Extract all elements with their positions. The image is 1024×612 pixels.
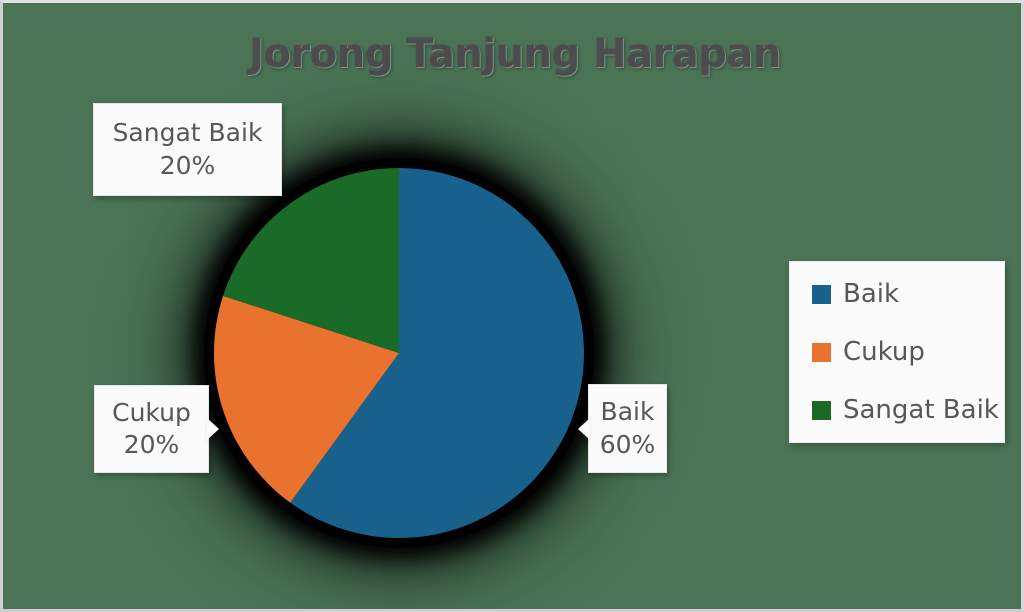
pie-chart [214, 168, 584, 538]
data-label-baik-name: Baik [601, 396, 655, 429]
callout-tail-icon [207, 418, 219, 440]
callout-tail-icon [578, 418, 590, 440]
legend-label: Baik [843, 279, 899, 309]
data-label-cukup[interactable]: Cukup 20% [94, 385, 209, 473]
data-label-sangat-baik[interactable]: Sangat Baik 20% [93, 103, 282, 196]
data-label-baik-percent: 60% [600, 429, 656, 462]
chart-title: Jorong Tanjung Harapan [3, 31, 1024, 77]
legend-swatch-icon [812, 401, 831, 420]
data-label-cukup-percent: 20% [124, 429, 180, 462]
pie-svg [214, 168, 584, 538]
data-label-sangat-baik-percent: 20% [160, 150, 216, 183]
data-label-baik[interactable]: Baik 60% [588, 384, 667, 473]
data-label-cukup-name: Cukup [112, 397, 191, 430]
legend-swatch-icon [812, 343, 831, 362]
legend-item-sangat-baik[interactable]: Sangat Baik [812, 381, 1004, 439]
legend-label: Sangat Baik [843, 395, 999, 425]
data-label-sangat-baik-name: Sangat Baik [113, 117, 263, 150]
legend-item-cukup[interactable]: Cukup [812, 323, 1004, 381]
legend-label: Cukup [843, 337, 925, 367]
legend-item-baik[interactable]: Baik [812, 265, 1004, 323]
chart-legend: Baik Cukup Sangat Baik [789, 261, 1005, 443]
chart-canvas: Jorong Tanjung Harapan Sangat Baik 20% C… [0, 0, 1024, 612]
legend-swatch-icon [812, 285, 831, 304]
